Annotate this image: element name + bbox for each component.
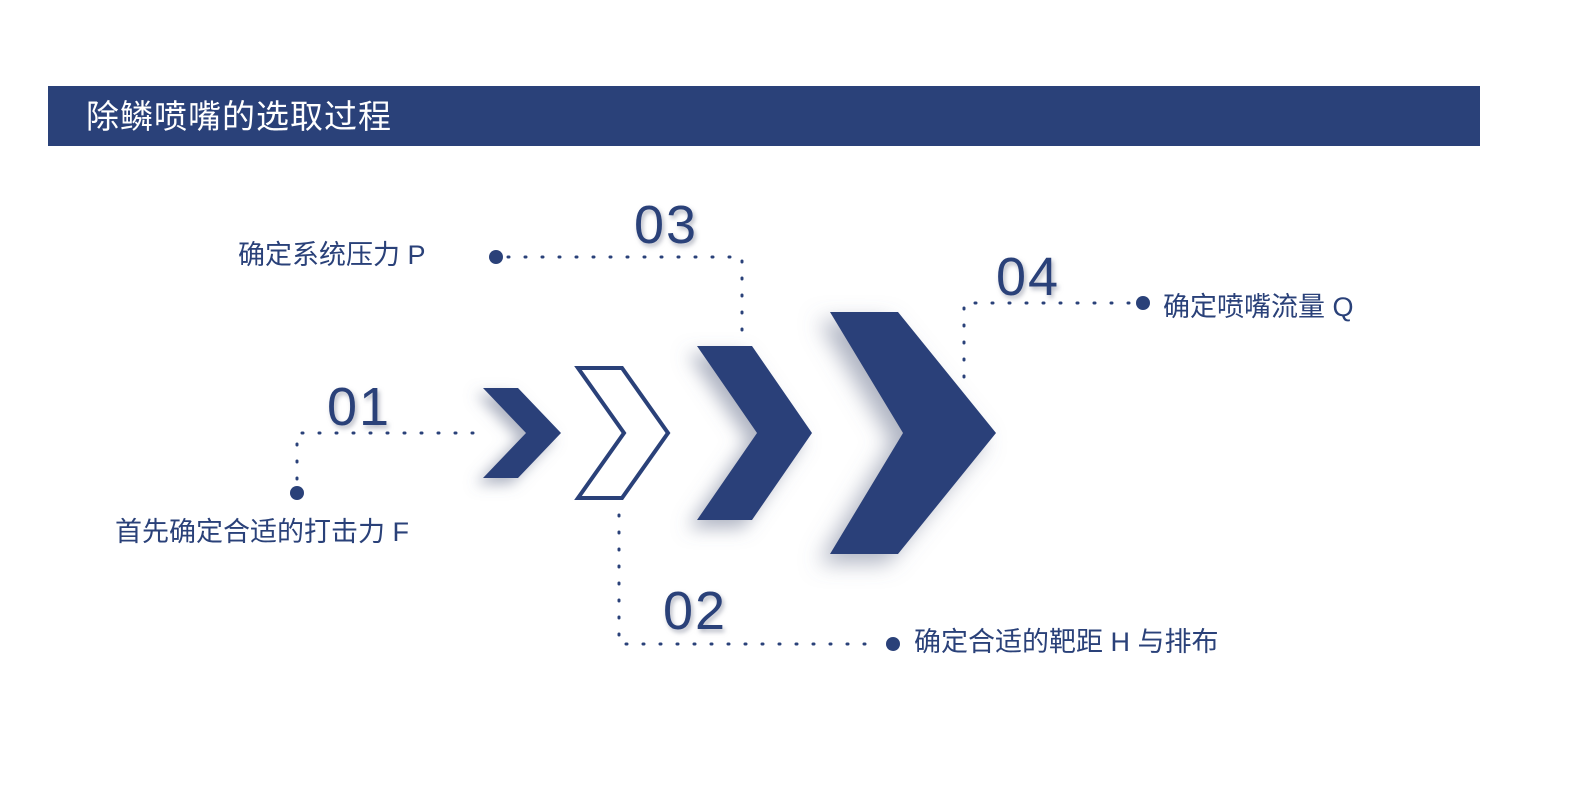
connector-01 xyxy=(290,433,473,500)
bullet-03 xyxy=(489,250,503,264)
step-label-03: 确定系统压力 P xyxy=(238,242,426,269)
chevron-3 xyxy=(697,346,812,520)
step-label-02: 确定合适的靶距 H 与排布 xyxy=(914,629,1219,656)
step-number-02: 02 xyxy=(663,584,727,638)
step-number-03: 03 xyxy=(634,198,698,252)
bullet-04 xyxy=(1136,296,1150,310)
connector-line-01 xyxy=(297,433,473,482)
chevron-1 xyxy=(483,388,561,478)
step-number-01: 01 xyxy=(327,380,391,434)
slide-canvas: 除鳞喷嘴的选取过程 xyxy=(0,0,1575,807)
bullet-02 xyxy=(886,637,900,651)
connector-line-04 xyxy=(964,303,1131,377)
bullet-01 xyxy=(290,486,304,500)
connector-03 xyxy=(489,250,742,336)
chevron-4 xyxy=(830,312,996,554)
connector-line-02 xyxy=(619,515,881,644)
chevron-2 xyxy=(578,368,668,498)
process-diagram xyxy=(0,0,1575,807)
connector-line-03 xyxy=(508,257,742,336)
step-label-01: 首先确定合适的打击力 F xyxy=(115,519,409,546)
step-number-04: 04 xyxy=(996,250,1060,304)
connector-04 xyxy=(964,296,1150,377)
step-label-04: 确定喷嘴流量 Q xyxy=(1163,294,1354,321)
